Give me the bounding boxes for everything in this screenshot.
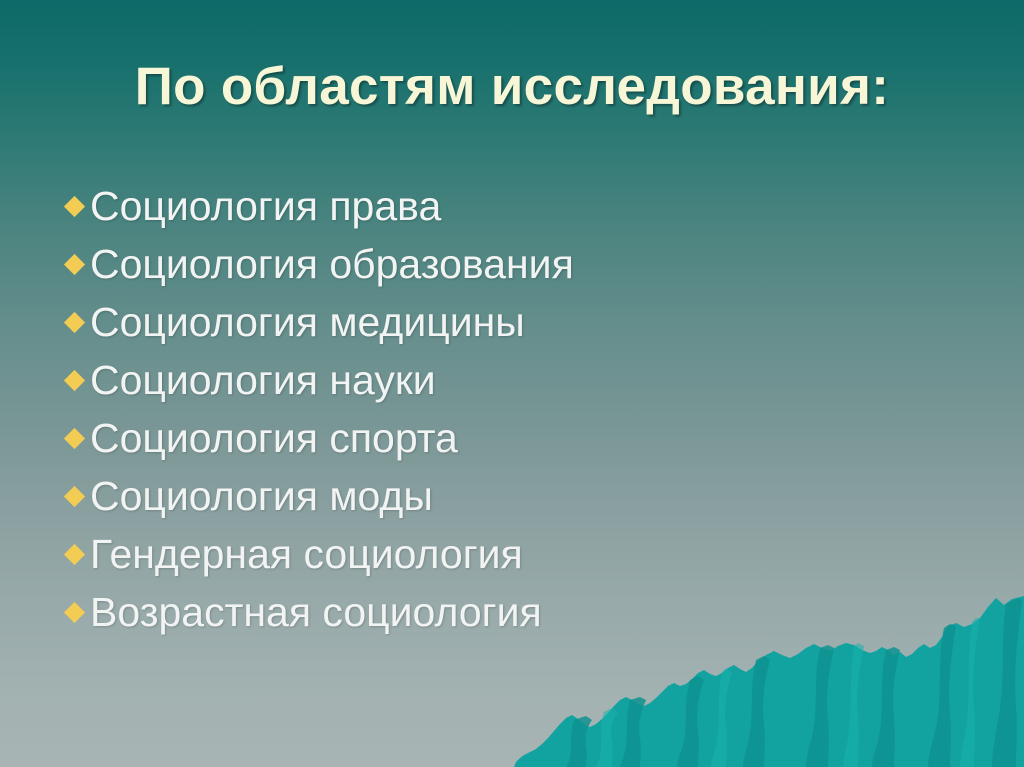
list-item-label: Социология образования [90, 238, 962, 290]
list-item: Гендерная социология [62, 528, 962, 580]
list-item: Социология моды [62, 470, 962, 522]
diamond-bullet-icon [62, 470, 90, 522]
list-item: Социология медицины [62, 296, 962, 348]
bullet-list: Социология права Социология образования … [62, 180, 962, 644]
diamond-bullet-icon [62, 528, 90, 580]
list-item-label: Гендерная социология [90, 528, 962, 580]
list-item-label: Социология медицины [90, 296, 962, 348]
list-item: Возрастная социология [62, 586, 962, 638]
list-item: Социология образования [62, 238, 962, 290]
list-item-label: Социология права [90, 180, 962, 232]
presentation-slide: По областям исследования: Социология пра… [0, 0, 1024, 767]
list-item: Социология права [62, 180, 962, 232]
list-item-label: Социология науки [90, 354, 962, 406]
diamond-bullet-icon [62, 354, 90, 406]
list-item-label: Возрастная социология [90, 586, 962, 638]
diamond-bullet-icon [62, 180, 90, 232]
list-item: Социология науки [62, 354, 962, 406]
diamond-bullet-icon [62, 296, 90, 348]
list-item: Социология спорта [62, 412, 962, 464]
diamond-bullet-icon [62, 586, 90, 638]
list-item-label: Социология моды [90, 470, 962, 522]
diamond-bullet-icon [62, 238, 90, 290]
slide-title: По областям исследования: [0, 56, 1024, 118]
list-item-label: Социология спорта [90, 412, 962, 464]
diamond-bullet-icon [62, 412, 90, 464]
